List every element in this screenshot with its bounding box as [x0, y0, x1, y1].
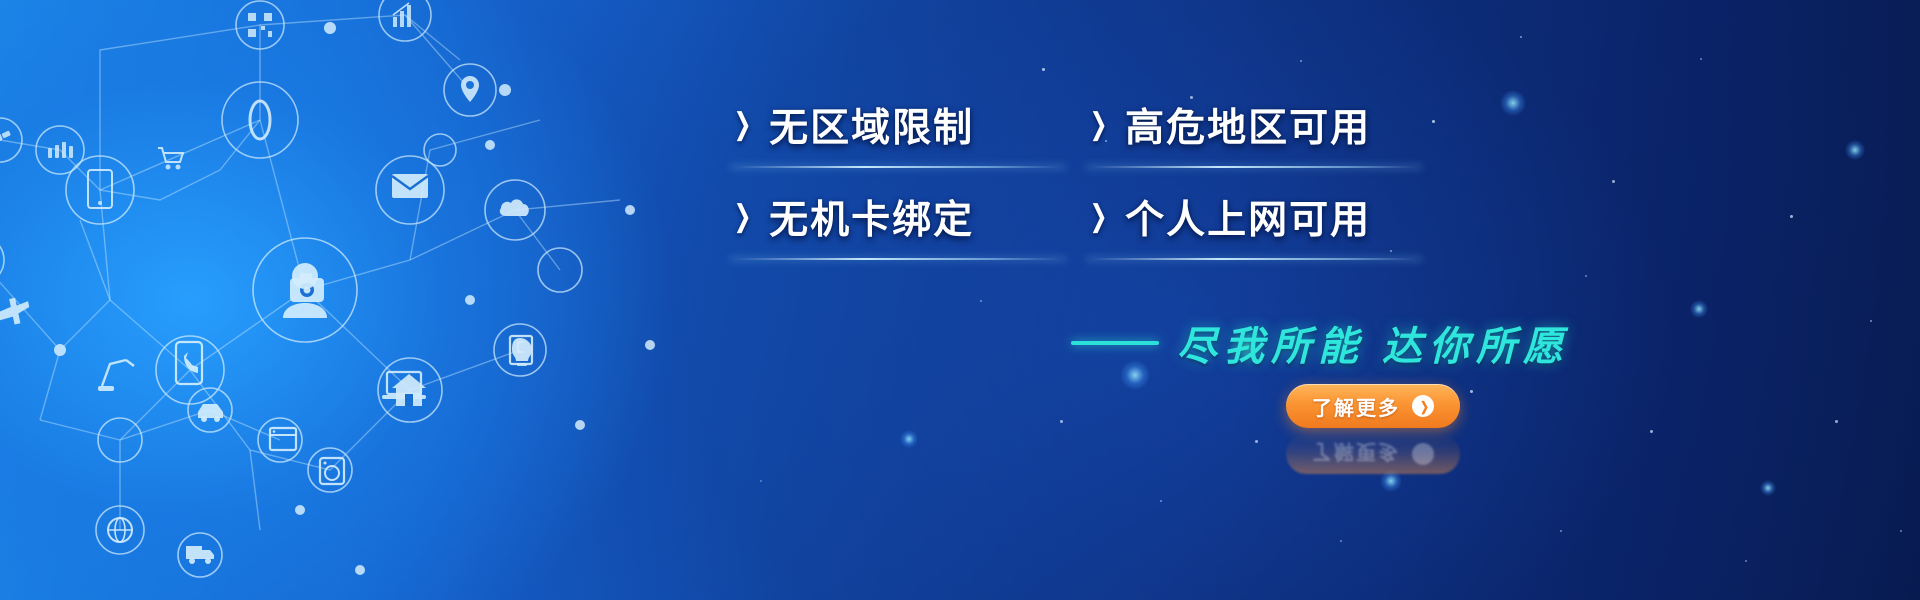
button-reflection: 了解更多	[1286, 434, 1460, 474]
learn-more-label: 了解更多	[1312, 392, 1400, 421]
feature-row-2: ❯ 无机卡绑定 ❯ 个人上网可用	[730, 168, 1490, 260]
banner-content: ❯ 无区域限制 ❯ 高危地区可用 ❯ 无机卡绑	[730, 96, 1570, 516]
iot-network-illustration	[0, 0, 680, 600]
chevron-right-circle-icon: ❯	[1412, 395, 1434, 417]
feature-label: 无区域限制	[769, 97, 974, 153]
button-reflection-label: 了解更多	[1312, 440, 1400, 469]
chevron-right-icon: ❯	[1090, 110, 1108, 140]
feature-row-1: ❯ 无区域限制 ❯ 高危地区可用	[730, 96, 1490, 168]
learn-more-button[interactable]: 了解更多 ❯	[1286, 384, 1460, 428]
promo-banner: ❯ 无区域限制 ❯ 高危地区可用 ❯ 无机卡绑	[0, 0, 1920, 600]
button-reflection-arrow	[1412, 443, 1434, 465]
feature-item-personal-internet[interactable]: ❯ 个人上网可用	[1086, 168, 1426, 260]
chevron-right-icon: ❯	[734, 202, 752, 232]
tagline-text: 尽我所能 达你所愿	[1177, 314, 1570, 372]
feature-list: ❯ 无区域限制 ❯ 高危地区可用 ❯ 无机卡绑	[730, 96, 1490, 260]
feature-label: 无机卡绑定	[769, 189, 974, 245]
feature-item-high-risk-area[interactable]: ❯ 高危地区可用	[1086, 96, 1426, 168]
feature-divider	[1086, 258, 1422, 260]
chevron-right-icon: ❯	[1090, 202, 1108, 232]
tagline: 尽我所能 达你所愿	[1071, 314, 1570, 372]
feature-divider	[730, 258, 1066, 260]
feature-label: 个人上网可用	[1125, 189, 1371, 245]
feature-label: 高危地区可用	[1125, 97, 1371, 153]
feature-item-no-region-limit[interactable]: ❯ 无区域限制	[730, 96, 1070, 168]
chevron-right-icon: ❯	[734, 110, 752, 140]
cta-area: 了解更多 ❯ 了解更多	[1286, 384, 1460, 474]
feature-item-no-sim-binding[interactable]: ❯ 无机卡绑定	[730, 168, 1070, 260]
tagline-dash	[1071, 341, 1159, 345]
